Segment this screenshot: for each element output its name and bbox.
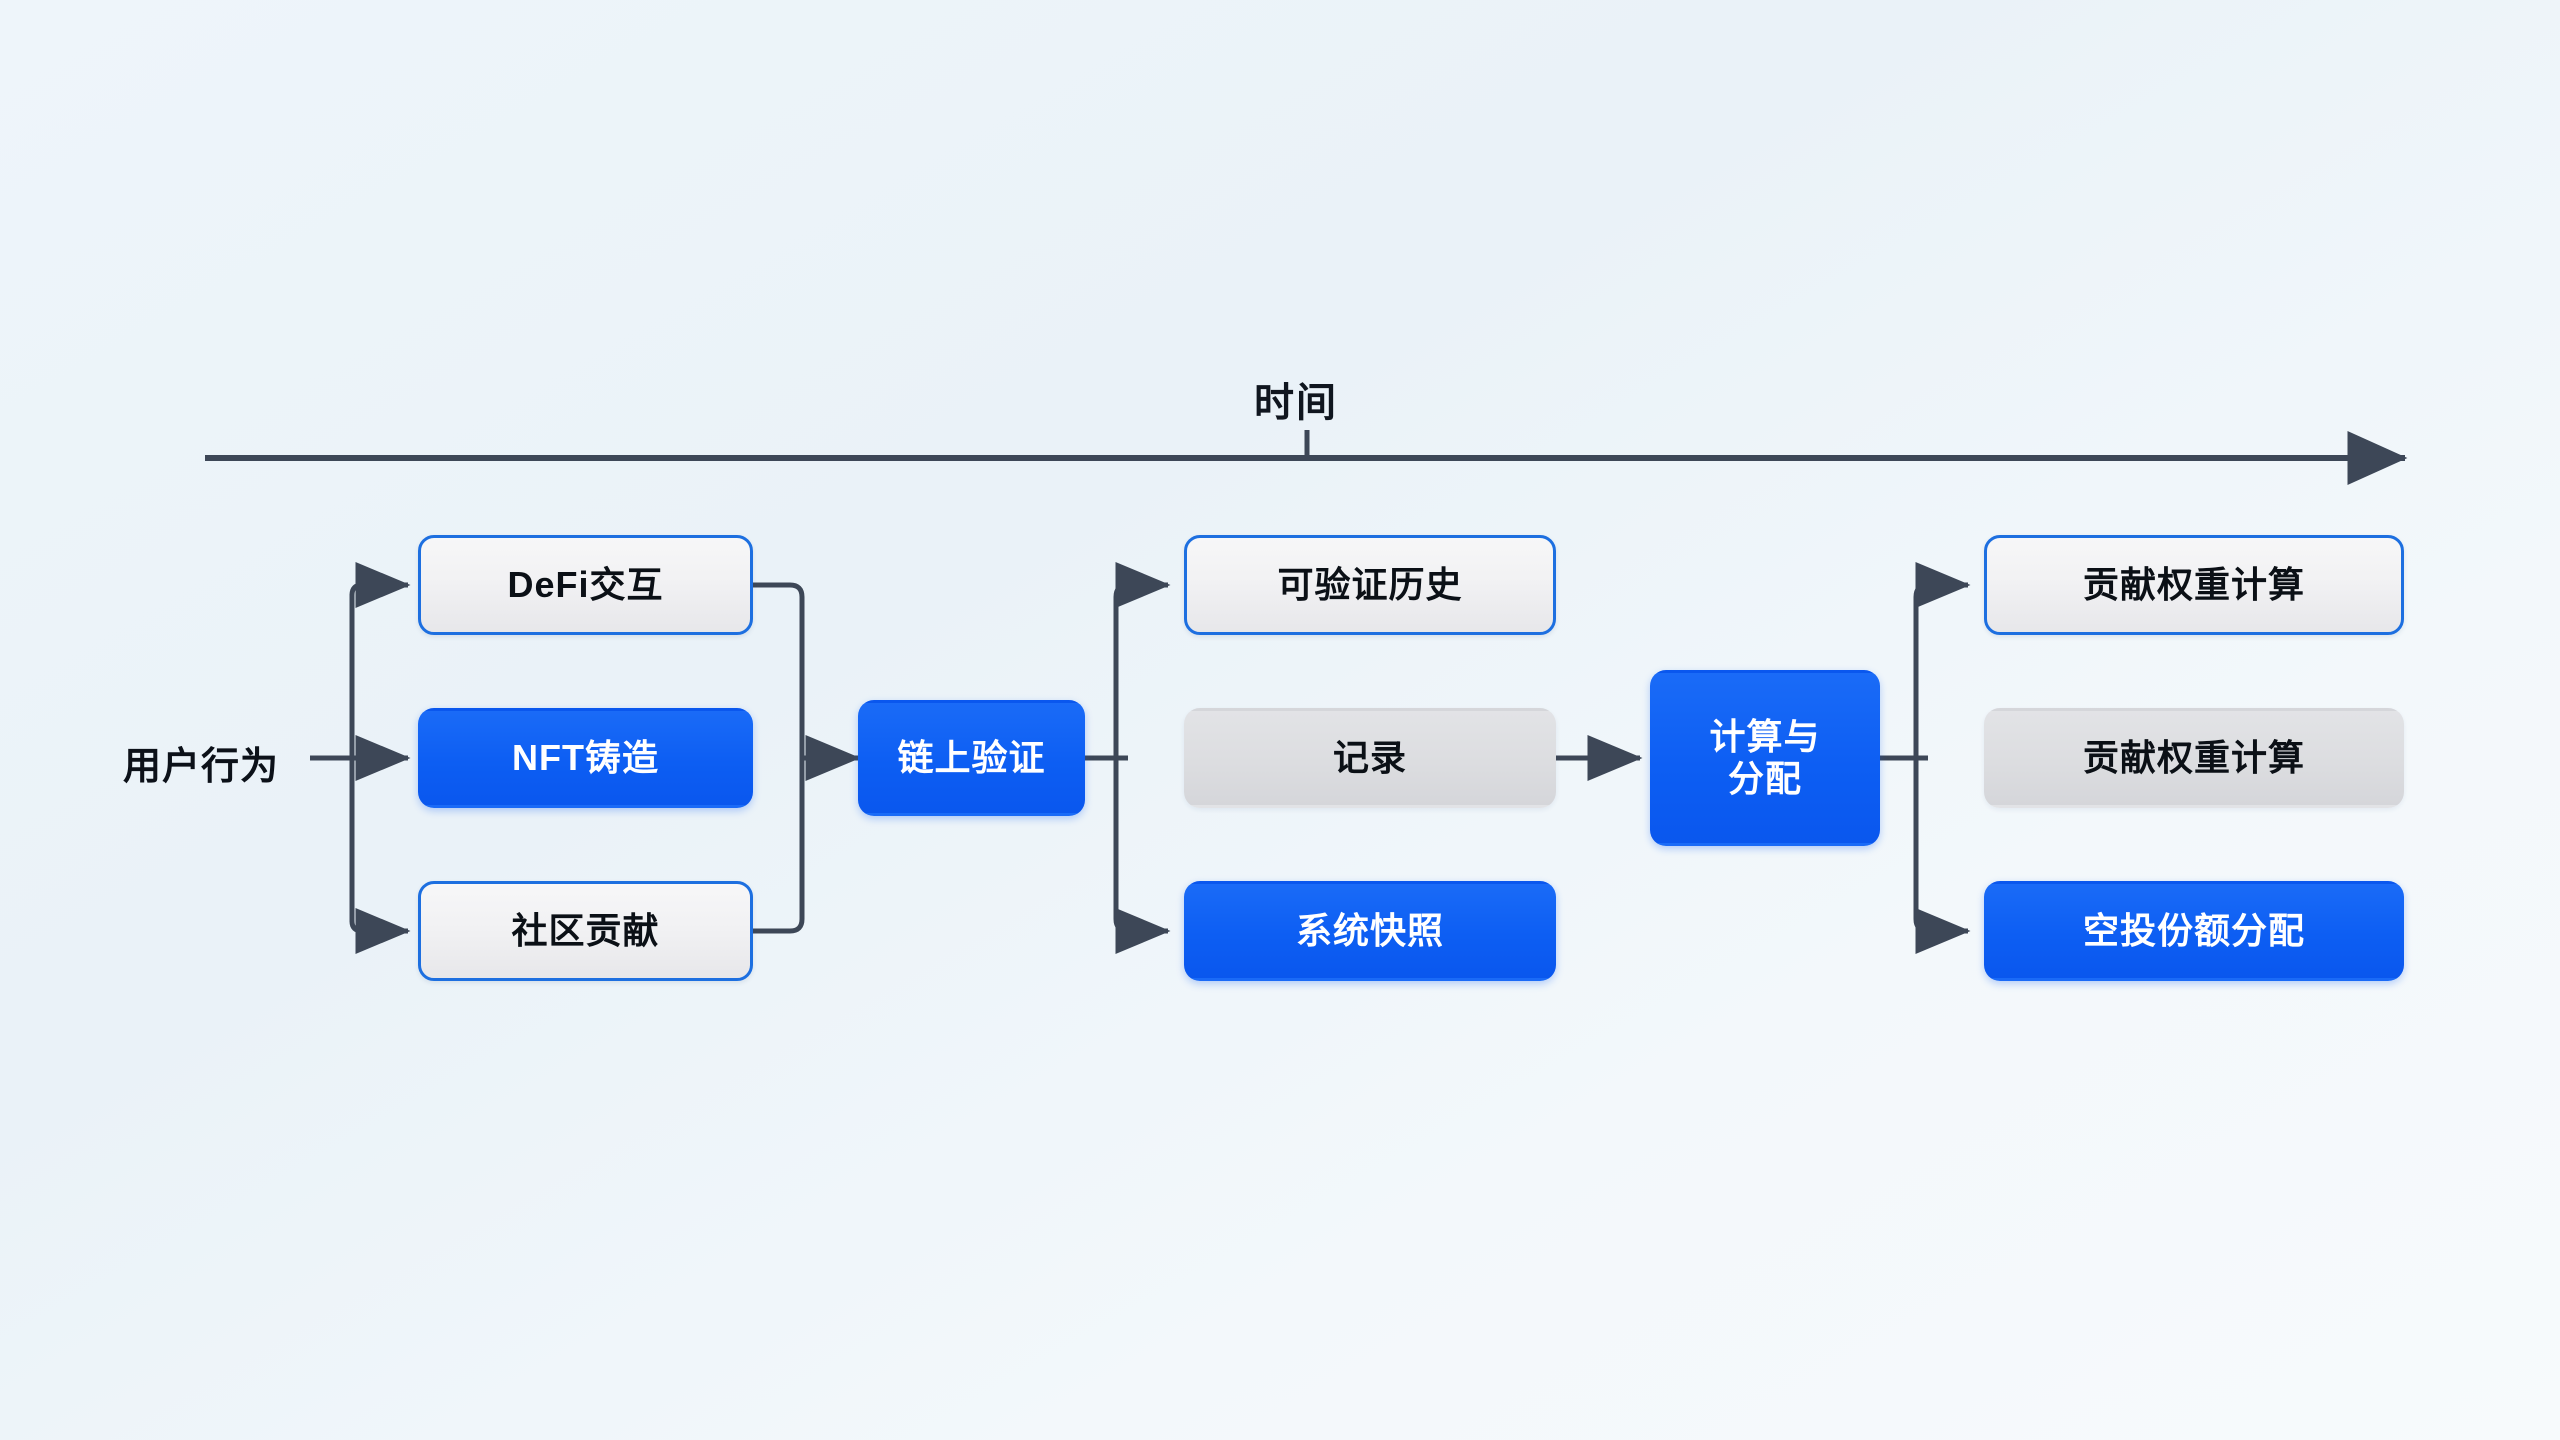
node-airdrop-allocation[interactable]: 空投份额分配 — [1984, 881, 2404, 981]
node-label: 社区贡献 — [511, 910, 659, 952]
node-label: 贡献权重计算 — [2083, 737, 2305, 779]
node-contribution-weight-secondary[interactable]: 贡献权重计算 — [1984, 708, 2404, 808]
node-label: 记录 — [1333, 737, 1407, 779]
node-label: 链上验证 — [897, 737, 1045, 779]
node-label: DeFi交互 — [507, 564, 663, 606]
timeline-label: 时间 — [1196, 370, 1396, 428]
node-label-line-1: 计算与 — [1709, 716, 1820, 758]
node-verifiable-history[interactable]: 可验证历史 — [1184, 535, 1556, 635]
split-connector-stage5 — [1880, 585, 1968, 931]
node-nft-minting[interactable]: NFT铸造 — [418, 708, 753, 808]
node-label: 可验证历史 — [1277, 564, 1462, 606]
node-community-contribution[interactable]: 社区贡献 — [418, 881, 753, 981]
node-onchain-verification[interactable]: 链上验证 — [858, 700, 1085, 816]
entry-connector — [310, 585, 408, 931]
timeline-flow-diagram: 时间 用户行为 DeFi交互 NFT铸造 社区贡献 链上验证 可验证历史 记录 … — [0, 0, 2560, 1440]
node-system-snapshot[interactable]: 系统快照 — [1184, 881, 1556, 981]
node-label: 贡献权重计算 — [2083, 564, 2305, 606]
entry-label-user-actions: 用户行为 — [96, 735, 306, 790]
node-label-line-2: 分配 — [1709, 758, 1820, 800]
node-label: 计算与 分配 — [1709, 716, 1820, 801]
merge-connector-stage1 — [753, 585, 858, 931]
node-defi-interaction[interactable]: DeFi交互 — [418, 535, 753, 635]
split-connector-stage3 — [1085, 585, 1168, 931]
node-contribution-weight-primary[interactable]: 贡献权重计算 — [1984, 535, 2404, 635]
node-record[interactable]: 记录 — [1184, 708, 1556, 808]
node-label: NFT铸造 — [512, 737, 659, 779]
node-compute-and-distribute[interactable]: 计算与 分配 — [1650, 670, 1880, 846]
timeline-axis — [205, 430, 2405, 458]
node-label: 空投份额分配 — [2083, 910, 2305, 952]
node-label: 系统快照 — [1296, 910, 1444, 952]
